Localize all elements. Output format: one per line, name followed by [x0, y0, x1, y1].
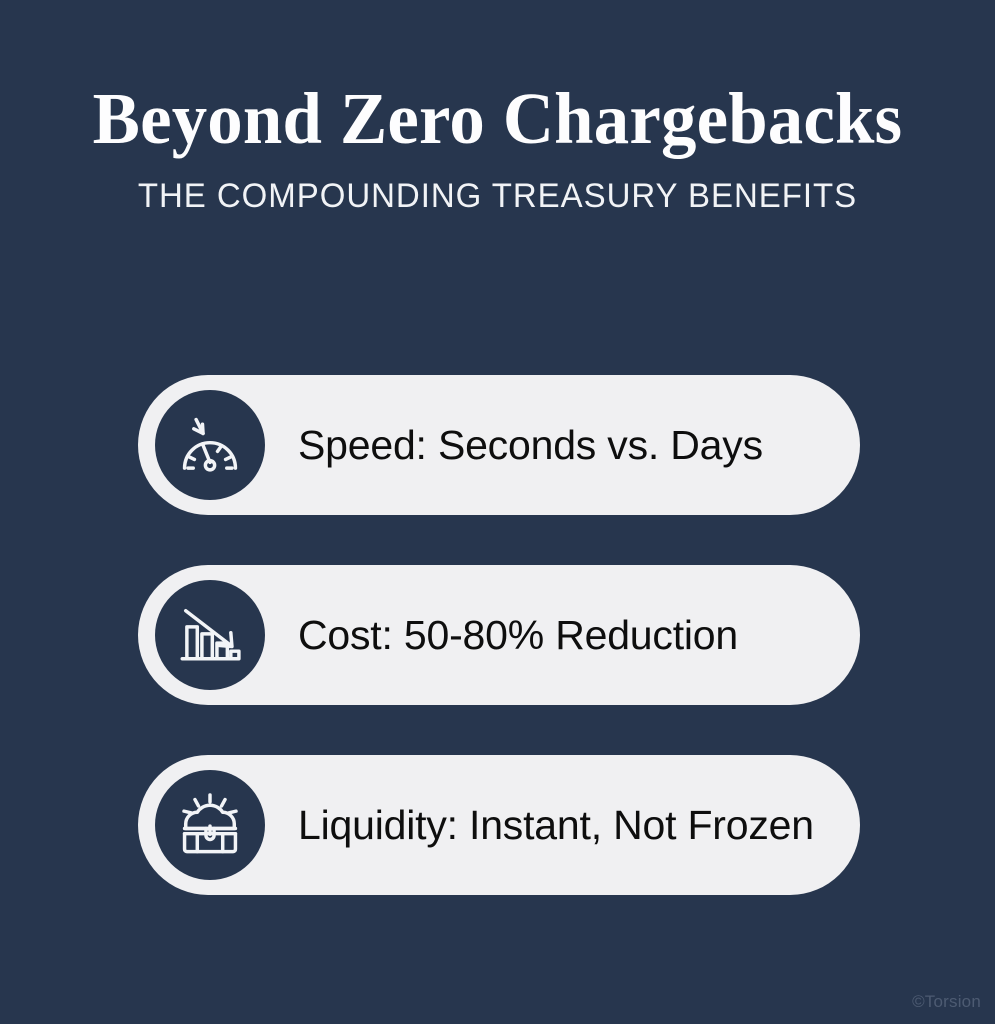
benefit-label: Cost: 50-80% Reduction: [298, 612, 738, 659]
page-title: Beyond Zero Chargebacks: [15, 0, 980, 155]
poster-canvas: Beyond Zero Chargebacks THE COMPOUNDING …: [0, 0, 995, 1024]
benefit-item-speed[interactable]: Speed: Seconds vs. Days: [138, 375, 860, 515]
benefit-label: Speed: Seconds vs. Days: [298, 422, 763, 469]
speedometer-down-arrow-icon: [155, 390, 265, 500]
benefit-list: Speed: Seconds vs. Days Cost: 50-80%: [138, 375, 860, 895]
treasure-chest-icon: [155, 770, 265, 880]
watermark: ©Torsion: [912, 992, 981, 1012]
benefit-item-liquidity[interactable]: Liquidity: Instant, Not Frozen: [138, 755, 860, 895]
page-subtitle: THE COMPOUNDING TREASURY BENEFITS: [15, 155, 980, 216]
header: Beyond Zero Chargebacks THE COMPOUNDING …: [0, 0, 995, 216]
benefit-label: Liquidity: Instant, Not Frozen: [298, 802, 814, 849]
benefit-item-cost[interactable]: Cost: 50-80% Reduction: [138, 565, 860, 705]
declining-bar-chart-icon: [155, 580, 265, 690]
